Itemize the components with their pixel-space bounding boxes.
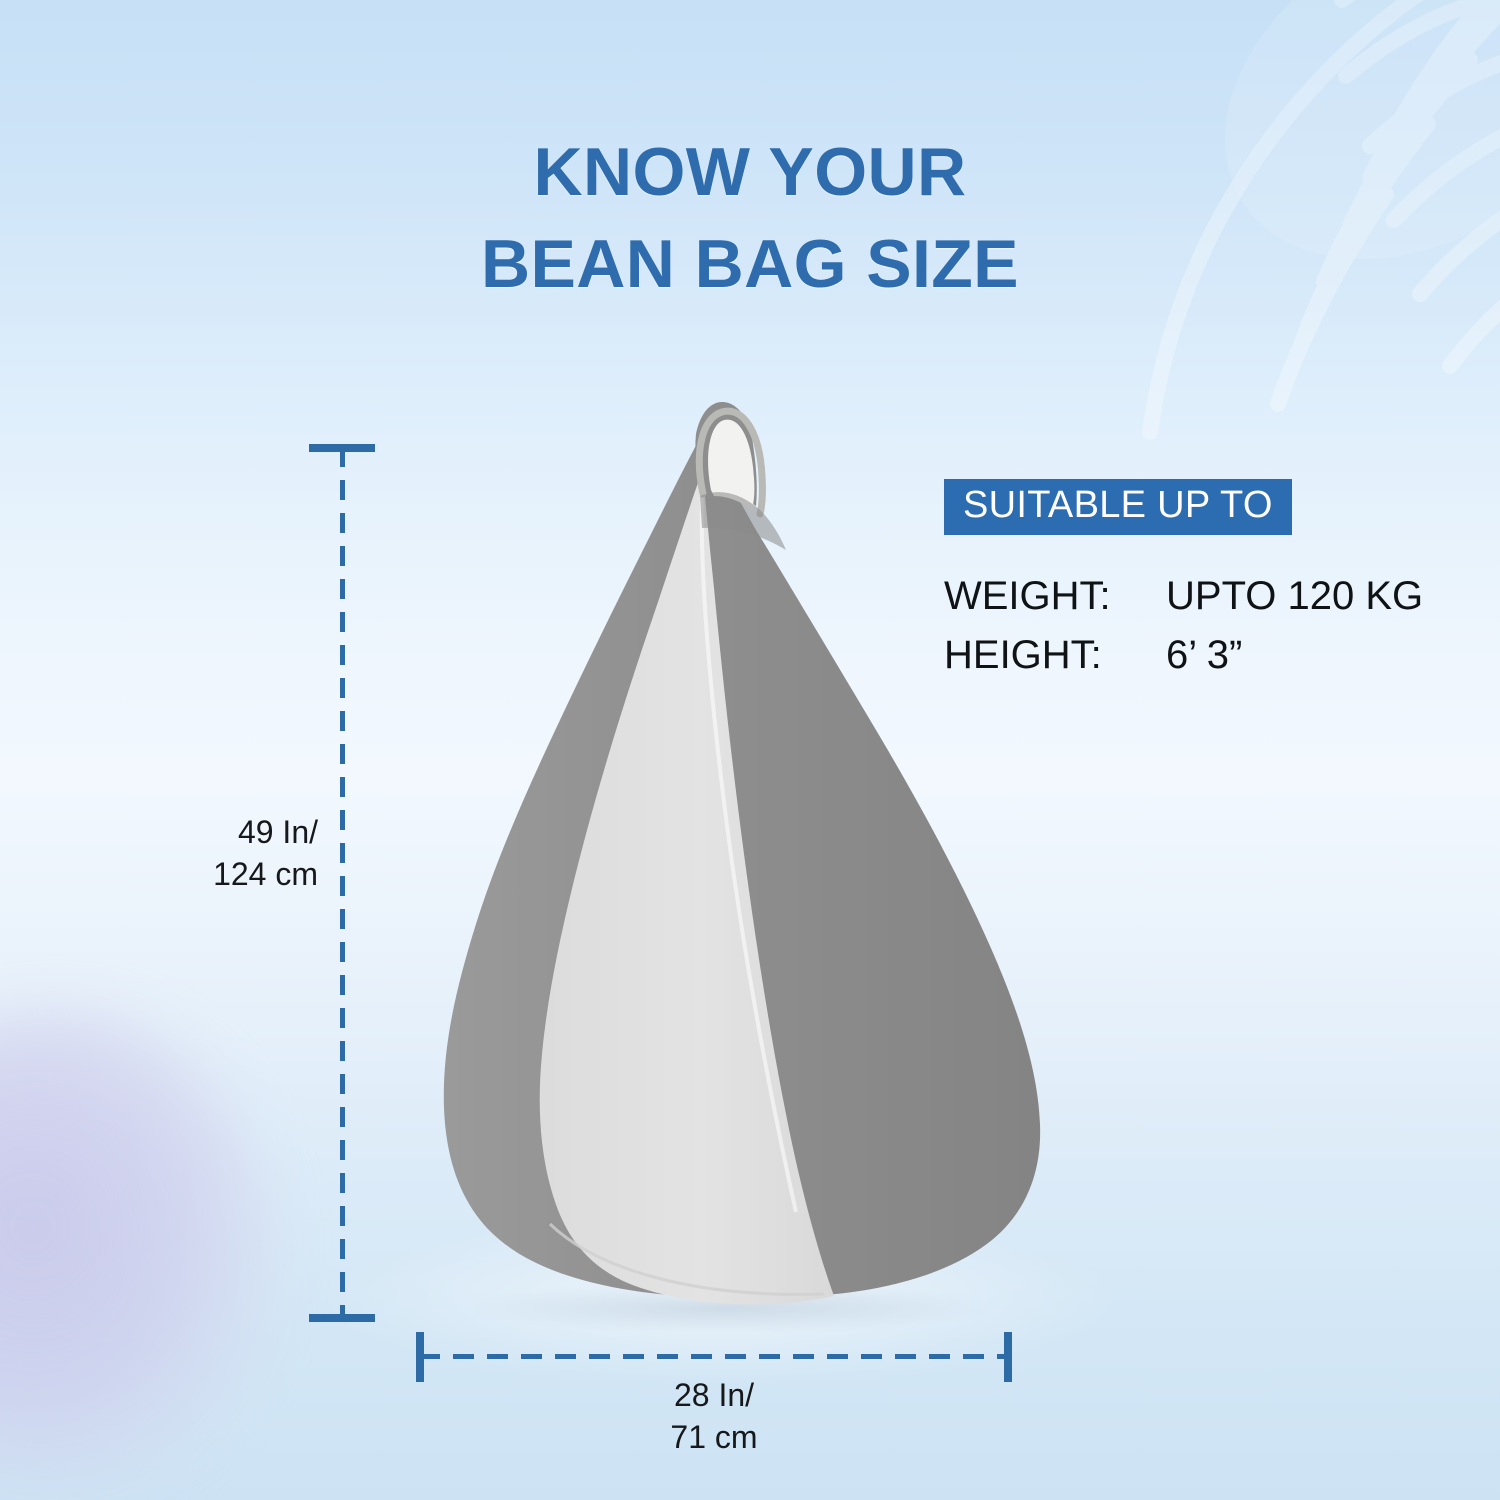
- spec-key-height: HEIGHT:: [944, 626, 1162, 685]
- height-dimension-line: [340, 447, 345, 1319]
- height-dimension-cap-bottom: [309, 1314, 375, 1322]
- title-line-2: BEAN BAG SIZE: [0, 219, 1500, 311]
- decorative-blob: [0, 1010, 275, 1490]
- height-dimension-label: 49 In/ 124 cm: [128, 812, 318, 895]
- spec-rows: WEIGHT: UPTO 120 KG HEIGHT: 6’ 3”: [944, 567, 1444, 685]
- spec-key-weight: WEIGHT:: [944, 567, 1162, 626]
- infographic-canvas: KNOW YOUR BEAN BAG SIZE: [0, 0, 1500, 1500]
- page-title: KNOW YOUR BEAN BAG SIZE: [0, 127, 1500, 311]
- spec-value-weight: UPTO 120 KG: [1162, 567, 1423, 626]
- title-line-1: KNOW YOUR: [0, 127, 1500, 219]
- width-dimension-line: [419, 1354, 1009, 1359]
- spec-row-weight: WEIGHT: UPTO 120 KG: [944, 567, 1444, 626]
- suitable-up-to-badge: SUITABLE UP TO: [944, 479, 1292, 535]
- width-dimension-cap-right: [1004, 1332, 1012, 1382]
- spec-row-height: HEIGHT: 6’ 3”: [944, 626, 1444, 685]
- width-dimension-label: 28 In/ 71 cm: [529, 1375, 899, 1458]
- spec-value-height: 6’ 3”: [1162, 626, 1242, 685]
- specs-panel: SUITABLE UP TO WEIGHT: UPTO 120 KG HEIGH…: [944, 479, 1444, 685]
